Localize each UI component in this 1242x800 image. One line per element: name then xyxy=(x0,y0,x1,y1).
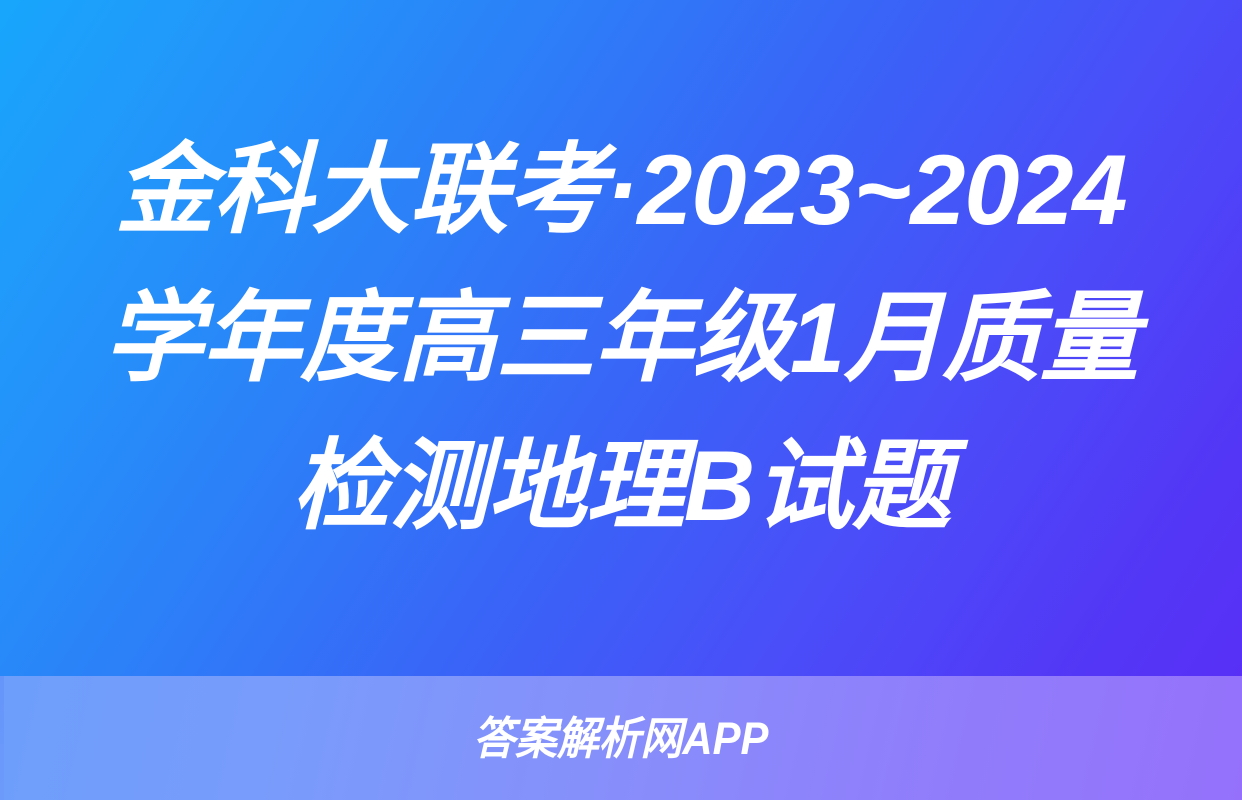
title-line-1: 金科大联考·2023~2024 xyxy=(115,116,1126,264)
title-block: 金科大联考·2023~2024 学年度高三年级1月质量 检测地理B试题 xyxy=(0,0,1242,676)
title-line-2: 学年度高三年级1月质量 xyxy=(104,264,1138,412)
footer-watermark-bar: 答案解析网APP xyxy=(0,676,1242,800)
watermark-brand-label: 答案解析网APP xyxy=(473,716,768,761)
exam-cover-banner: 金科大联考·2023~2024 学年度高三年级1月质量 检测地理B试题 答案解析… xyxy=(0,0,1242,800)
title-line-3: 检测地理B试题 xyxy=(292,412,951,560)
